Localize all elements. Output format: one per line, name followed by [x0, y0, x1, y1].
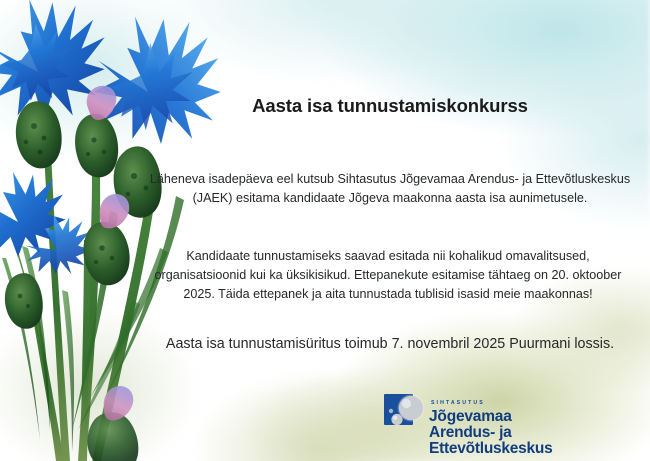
logo-kicker: SIHTASUTUS	[429, 400, 485, 406]
logo-line-jogevamaa: Jõgevamaa	[429, 409, 626, 425]
poster-canvas: Aasta isa tunnustamiskonkurss Läheneva i…	[0, 0, 650, 461]
poster-paragraph-event: Aasta isa tunnustamisüritus toimub 7. no…	[145, 334, 635, 355]
logo-wordmark: SIHTASUTUS Jõgevamaa Arendus- ja Ettevõt…	[429, 391, 626, 457]
poster-paragraph-details: Kandidaate tunnustamiseks saavad esitada…	[140, 247, 636, 304]
poster-title: Aasta isa tunnustamiskonkurss	[145, 95, 635, 117]
jaek-logo: SIHTASUTUS Jõgevamaa Arendus- ja Ettevõt…	[384, 391, 626, 439]
bubbles-square-icon	[384, 393, 424, 433]
logo-line-arendus: Arendus- ja Ettevõtluskeskus	[429, 425, 626, 458]
poster-paragraph-intro: Läheneva isadepäeva eel kutsub Sihtasutu…	[145, 170, 635, 208]
